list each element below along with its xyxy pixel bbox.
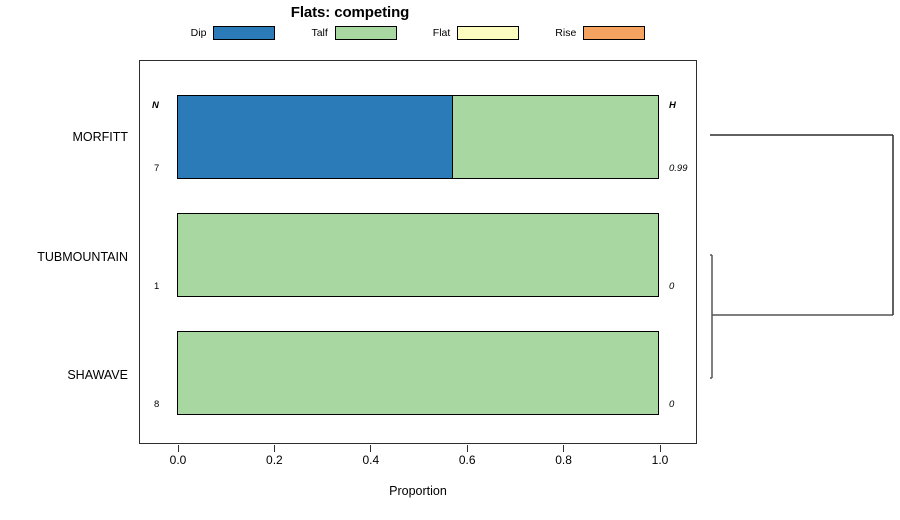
bar-row-shawave: [177, 331, 659, 415]
legend-swatch-talf: [335, 26, 397, 40]
legend-swatch-flat: [457, 26, 519, 40]
bar-track-shawave: [177, 331, 659, 415]
x-tick-label-3: 0.6: [459, 453, 476, 467]
x-tick-mark-1: [274, 445, 275, 452]
chart-legend: Dip Talf Flat Rise: [139, 24, 697, 42]
legend-swatch-rise: [583, 26, 645, 40]
bar-track-morfitt: [177, 95, 659, 179]
row-n-tubmountain: 1: [154, 281, 159, 292]
chart-title: Flats: competing: [0, 4, 700, 21]
legend-item-flat: Flat: [433, 26, 520, 40]
legend-label-dip: Dip: [191, 28, 207, 39]
row-h-tubmountain: 0: [669, 281, 674, 292]
x-tick-label-4: 0.8: [555, 453, 572, 467]
column-header-h: H: [669, 100, 676, 111]
row-h-morfitt: 0.99: [669, 163, 688, 174]
x-tick-label-5: 1.0: [652, 453, 669, 467]
row-h-shawave: 0: [669, 399, 674, 410]
row-label-morfitt: MORFITT: [0, 130, 128, 144]
legend-label-rise: Rise: [555, 28, 576, 39]
row-label-tubmountain: TUBMOUNTAIN: [0, 250, 128, 264]
legend-label-flat: Flat: [433, 28, 451, 39]
x-tick-label-1: 0.2: [266, 453, 283, 467]
dendrogram-svg: [700, 60, 900, 444]
row-label-shawave: SHAWAVE: [0, 368, 128, 382]
legend-item-talf: Talf: [311, 26, 396, 40]
legend-label-talf: Talf: [311, 28, 327, 39]
x-tick-mark-4: [563, 445, 564, 452]
x-tick-mark-2: [370, 445, 371, 452]
legend-swatch-dip: [213, 26, 275, 40]
x-tick-mark-5: [660, 445, 661, 452]
bar-segment-talf-tubmountain[interactable]: [178, 214, 658, 296]
bar-track-tubmountain: [177, 213, 659, 297]
dendrogram: [700, 60, 900, 444]
x-axis-title: Proportion: [139, 484, 697, 498]
column-header-n: N: [152, 100, 159, 111]
bar-segment-talf-morfitt[interactable]: [452, 96, 658, 178]
legend-item-rise: Rise: [555, 26, 645, 40]
x-tick-mark-3: [467, 445, 468, 452]
bar-row-morfitt: [177, 95, 659, 179]
row-n-morfitt: 7: [154, 163, 159, 174]
bar-segment-talf-shawave[interactable]: [178, 332, 658, 414]
row-n-shawave: 8: [154, 399, 159, 410]
bar-segment-dip-morfitt[interactable]: [178, 96, 452, 178]
x-tick-mark-0: [178, 445, 179, 452]
legend-item-dip: Dip: [191, 26, 276, 40]
x-tick-label-2: 0.4: [362, 453, 379, 467]
bar-row-tubmountain: [177, 213, 659, 297]
x-tick-label-0: 0.0: [170, 453, 187, 467]
